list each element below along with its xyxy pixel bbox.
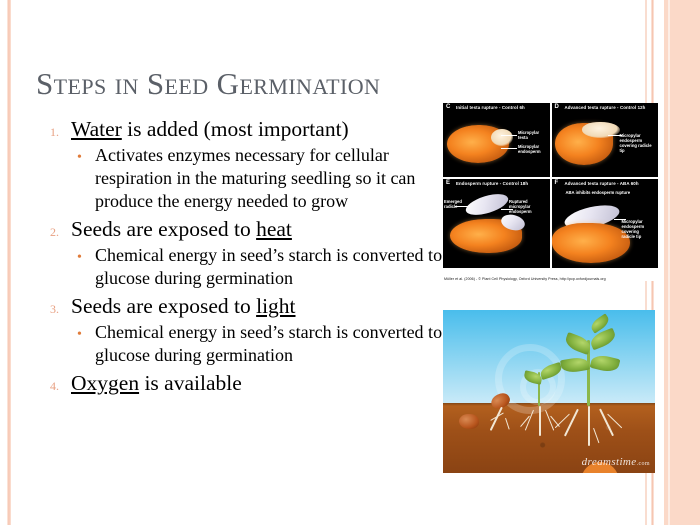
panel-annotation: Micropylar endosperm covering radicle ti…: [622, 219, 654, 239]
seed-body: [552, 223, 630, 263]
sub-list-item-text: Activates enzymes necessary for cellular…: [89, 144, 451, 213]
panel-letter: D: [555, 104, 559, 110]
slide-body: 1. Water is added (most important) • Act…: [33, 116, 451, 398]
list-item-text: Oxygen is available: [59, 370, 451, 397]
list-item-text: Water is added (most important): [59, 116, 451, 143]
leader-line: [501, 148, 517, 149]
list-item: 2. Seeds are exposed to heat: [33, 216, 451, 243]
slide-title: Steps in Seed Germination: [36, 66, 380, 102]
seed-stage-dormant: [459, 414, 479, 429]
bullet-icon: •: [77, 246, 89, 269]
list-item-head: Seeds are exposed to: [71, 217, 256, 241]
panel-letter: C: [446, 104, 450, 110]
panel-letter: E: [446, 180, 450, 186]
panel-annotation: Micropylar endosperm: [518, 144, 548, 154]
sub-list-item-text: Chemical energy in seed’s starch is conv…: [89, 321, 451, 367]
list-item-number: 2.: [33, 225, 59, 240]
sub-list-item: • Chemical energy in seed’s starch is co…: [33, 321, 451, 367]
right-accent-band: [661, 0, 700, 525]
micrograph-panel-e: E Endosperm rupture - Control 18h Emerge…: [443, 179, 550, 268]
panel-title: Advanced testa rupture - Control 12h: [565, 105, 646, 110]
list-item-tail: is added (most important): [122, 117, 349, 141]
stock-watermark: dreamstime.com: [582, 456, 650, 468]
watermark-text: dreamstime: [582, 456, 637, 468]
presentation-slide: Steps in Seed Germination 1. Water is ad…: [0, 0, 700, 525]
watermark-suffix: .com: [637, 461, 650, 467]
list-item-keyword: Water: [71, 117, 122, 141]
list-item-text: Seeds are exposed to light: [59, 293, 451, 320]
panel-annotation: ABA inhibits endosperm rupture: [566, 190, 636, 195]
list-item-text: Seeds are exposed to heat: [59, 216, 451, 243]
figure-citation: Müller et al. (2006) - © Plant Cell Phys…: [444, 277, 658, 281]
list-item: 1. Water is added (most important): [33, 116, 451, 143]
sub-list-item: • Chemical energy in seed’s starch is co…: [33, 244, 451, 290]
list-item-head: Seeds are exposed to: [71, 294, 256, 318]
emerged-radicle-shape: [463, 190, 510, 219]
list-item-keyword: heat: [256, 217, 292, 241]
list-item-keyword: Oxygen: [71, 371, 139, 395]
bullet-icon: •: [77, 146, 89, 169]
bullet-icon: •: [77, 323, 89, 346]
panel-title: Endosperm rupture - Control 18h: [456, 181, 528, 186]
list-item-number: 1.: [33, 125, 59, 140]
list-item-tail: is available: [139, 371, 242, 395]
micrograph-panel-grid: C Initial testa rupture - Control 6h Mic…: [443, 103, 658, 266]
seed-micrograph-figure: C Initial testa rupture - Control 6h Mic…: [443, 103, 658, 281]
root: [588, 406, 590, 446]
panel-title: Initial testa rupture - Control 6h: [456, 105, 525, 110]
panel-annotation: Ruptured micropylar endosperm: [509, 199, 541, 214]
micrograph-panel-c: C Initial testa rupture - Control 6h Mic…: [443, 103, 550, 177]
panel-title: Advanced testa rupture - ABA 60h: [565, 181, 639, 186]
germination-illustration: dreamstime.com: [443, 310, 655, 473]
panel-letter: F: [555, 180, 559, 186]
root: [539, 406, 541, 436]
right-accent-highlight: [668, 0, 670, 525]
sub-list-item: • Activates enzymes necessary for cellul…: [33, 144, 451, 213]
micrograph-panel-d: D Advanced testa rupture - Control 12h M…: [552, 103, 659, 177]
list-item-number: 3.: [33, 302, 59, 317]
list-item: 3. Seeds are exposed to light: [33, 293, 451, 320]
list-item-number: 4.: [33, 379, 59, 394]
micropylar-testa-shape: [491, 129, 513, 146]
list-item-keyword: light: [256, 294, 295, 318]
micrograph-panel-f: F Advanced testa rupture - ABA 60h ABA i…: [552, 179, 659, 268]
panel-annotation: Micropylar testa: [518, 130, 548, 140]
left-accent-stripe: [7, 0, 11, 525]
list-item: 4. Oxygen is available: [33, 370, 451, 397]
sub-list-item-text: Chemical energy in seed’s starch is conv…: [89, 244, 451, 290]
panel-annotation: Micropylar endosperm covering radicle ti…: [620, 133, 654, 153]
leader-line: [501, 135, 517, 136]
panel-annotation: Emerged radicle: [444, 199, 468, 209]
